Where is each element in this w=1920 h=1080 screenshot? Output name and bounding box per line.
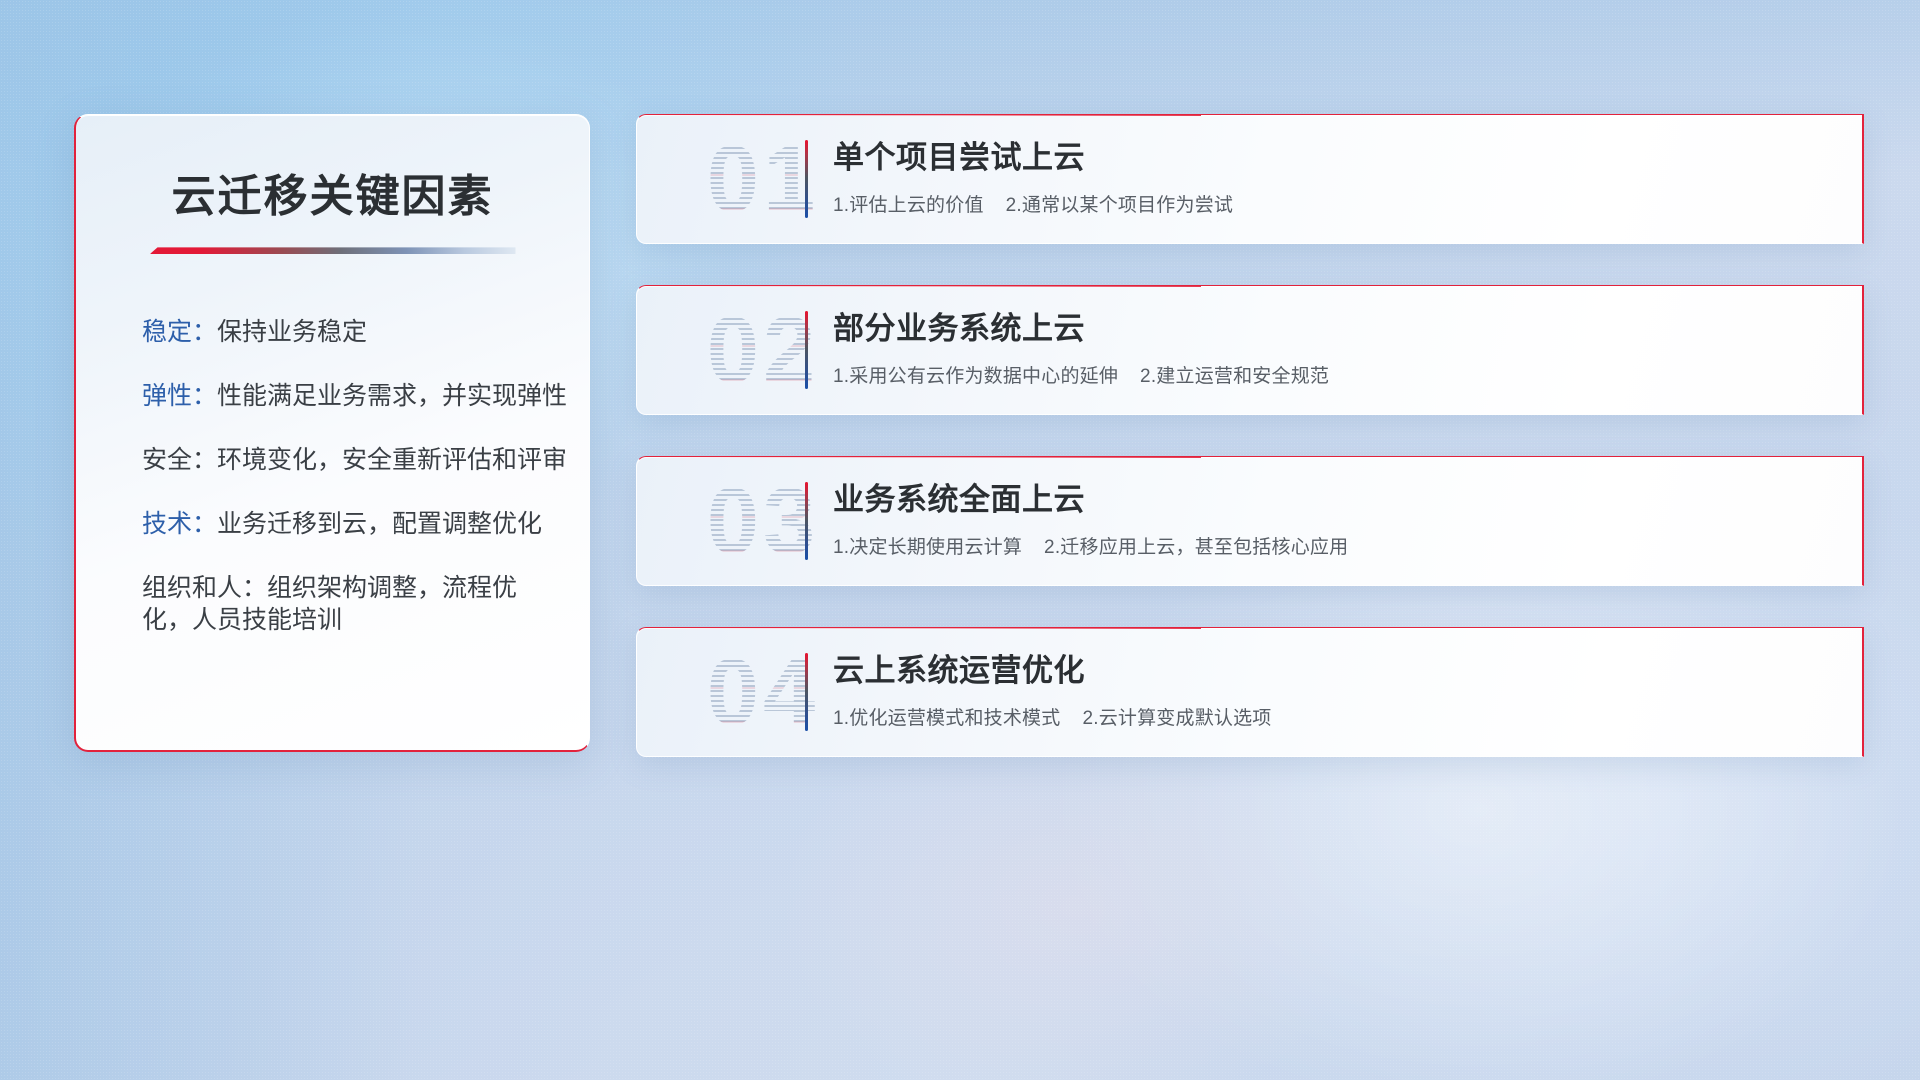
factor-row: 安全：环境变化，安全重新评估和评审	[142, 444, 555, 476]
stage-title: 部分业务系统上云	[833, 312, 1329, 346]
factor-key: 安全：	[142, 446, 217, 474]
stage-point: 1.采用公有云作为数据中心的延伸	[833, 366, 1118, 387]
stage-point: 2.通常以某个项目作为尝试	[1006, 195, 1233, 216]
factor-row: 技术：业务迁移到云，配置调整优化	[142, 508, 555, 540]
stage-point: 2.迁移应用上云，甚至包括核心应用	[1044, 537, 1348, 558]
stage-point: 1.评估上云的价值	[833, 195, 984, 216]
migration-stage-list: 0101单个项目尝试上云1.评估上云的价值2.通常以某个项目作为尝试0202部分…	[636, 114, 1864, 798]
stage-title: 单个项目尝试上云	[833, 141, 1233, 175]
factor-value: 环境变化，安全重新评估和评审	[217, 446, 567, 474]
stage-divider-bar	[805, 140, 808, 218]
factor-key: 技术：	[142, 510, 217, 538]
stage-points: 1.决定长期使用云计算2.迁移应用上云，甚至包括核心应用	[833, 532, 1348, 559]
migration-stage-card[interactable]: 0404云上系统运营优化1.优化运营模式和技术模式2.云计算变成默认选项	[636, 627, 1864, 757]
stage-point: 1.优化运营模式和技术模式	[833, 708, 1060, 729]
stage-divider-bar	[805, 653, 808, 731]
stage-divider-bar	[805, 482, 808, 560]
factor-row: 组织和人：组织架构调整，流程优化，人员技能培训	[142, 572, 555, 636]
stage-point: 2.云计算变成默认选项	[1082, 708, 1271, 729]
migration-stage-card[interactable]: 0101单个项目尝试上云1.评估上云的价值2.通常以某个项目作为尝试	[636, 114, 1864, 244]
factor-value: 性能满足业务需求，并实现弹性	[217, 382, 567, 410]
stage-body: 业务系统全面上云1.决定长期使用云计算2.迁移应用上云，甚至包括核心应用	[833, 483, 1348, 559]
factor-list: 稳定：保持业务稳定弹性：性能满足业务需求，并实现弹性安全：环境变化，安全重新评估…	[110, 316, 555, 636]
stage-body: 云上系统运营优化1.优化运营模式和技术模式2.云计算变成默认选项	[833, 654, 1272, 730]
factor-key: 组织和人：	[142, 574, 267, 602]
factor-key: 稳定：	[142, 318, 217, 346]
stage-point: 1.决定长期使用云计算	[833, 537, 1022, 558]
factor-row: 弹性：性能满足业务需求，并实现弹性	[142, 380, 555, 412]
factor-value: 保持业务稳定	[217, 318, 367, 346]
stage-body: 单个项目尝试上云1.评估上云的价值2.通常以某个项目作为尝试	[833, 141, 1233, 217]
stage-points: 1.评估上云的价值2.通常以某个项目作为尝试	[833, 190, 1233, 217]
migration-stage-card[interactable]: 0303业务系统全面上云1.决定长期使用云计算2.迁移应用上云，甚至包括核心应用	[636, 456, 1864, 586]
stage-divider-bar	[805, 311, 808, 389]
key-factors-panel: 云迁移关键因素 稳定：保持业务稳定弹性：性能满足业务需求，并实现弹性安全：环境变…	[74, 114, 590, 752]
stage-points: 1.采用公有云作为数据中心的延伸2.建立运营和安全规范	[833, 361, 1329, 388]
migration-stage-card[interactable]: 0202部分业务系统上云1.采用公有云作为数据中心的延伸2.建立运营和安全规范	[636, 285, 1864, 415]
factor-key: 弹性：	[142, 382, 217, 410]
stage-body: 部分业务系统上云1.采用公有云作为数据中心的延伸2.建立运营和安全规范	[833, 312, 1329, 388]
stage-title: 业务系统全面上云	[833, 483, 1348, 517]
page-title: 云迁移关键因素	[110, 173, 555, 221]
key-factors-panel-inner: 云迁移关键因素 稳定：保持业务稳定弹性：性能满足业务需求，并实现弹性安全：环境变…	[76, 115, 589, 750]
stage-title: 云上系统运营优化	[833, 654, 1272, 688]
factor-value: 业务迁移到云，配置调整优化	[217, 510, 542, 538]
stage-points: 1.优化运营模式和技术模式2.云计算变成默认选项	[833, 703, 1272, 730]
stage-point: 2.建立运营和安全规范	[1140, 366, 1329, 387]
title-underline-rule	[150, 247, 516, 254]
slide-stage: 云迁移关键因素 稳定：保持业务稳定弹性：性能满足业务需求，并实现弹性安全：环境变…	[0, 0, 1920, 1080]
factor-row: 稳定：保持业务稳定	[142, 316, 555, 348]
